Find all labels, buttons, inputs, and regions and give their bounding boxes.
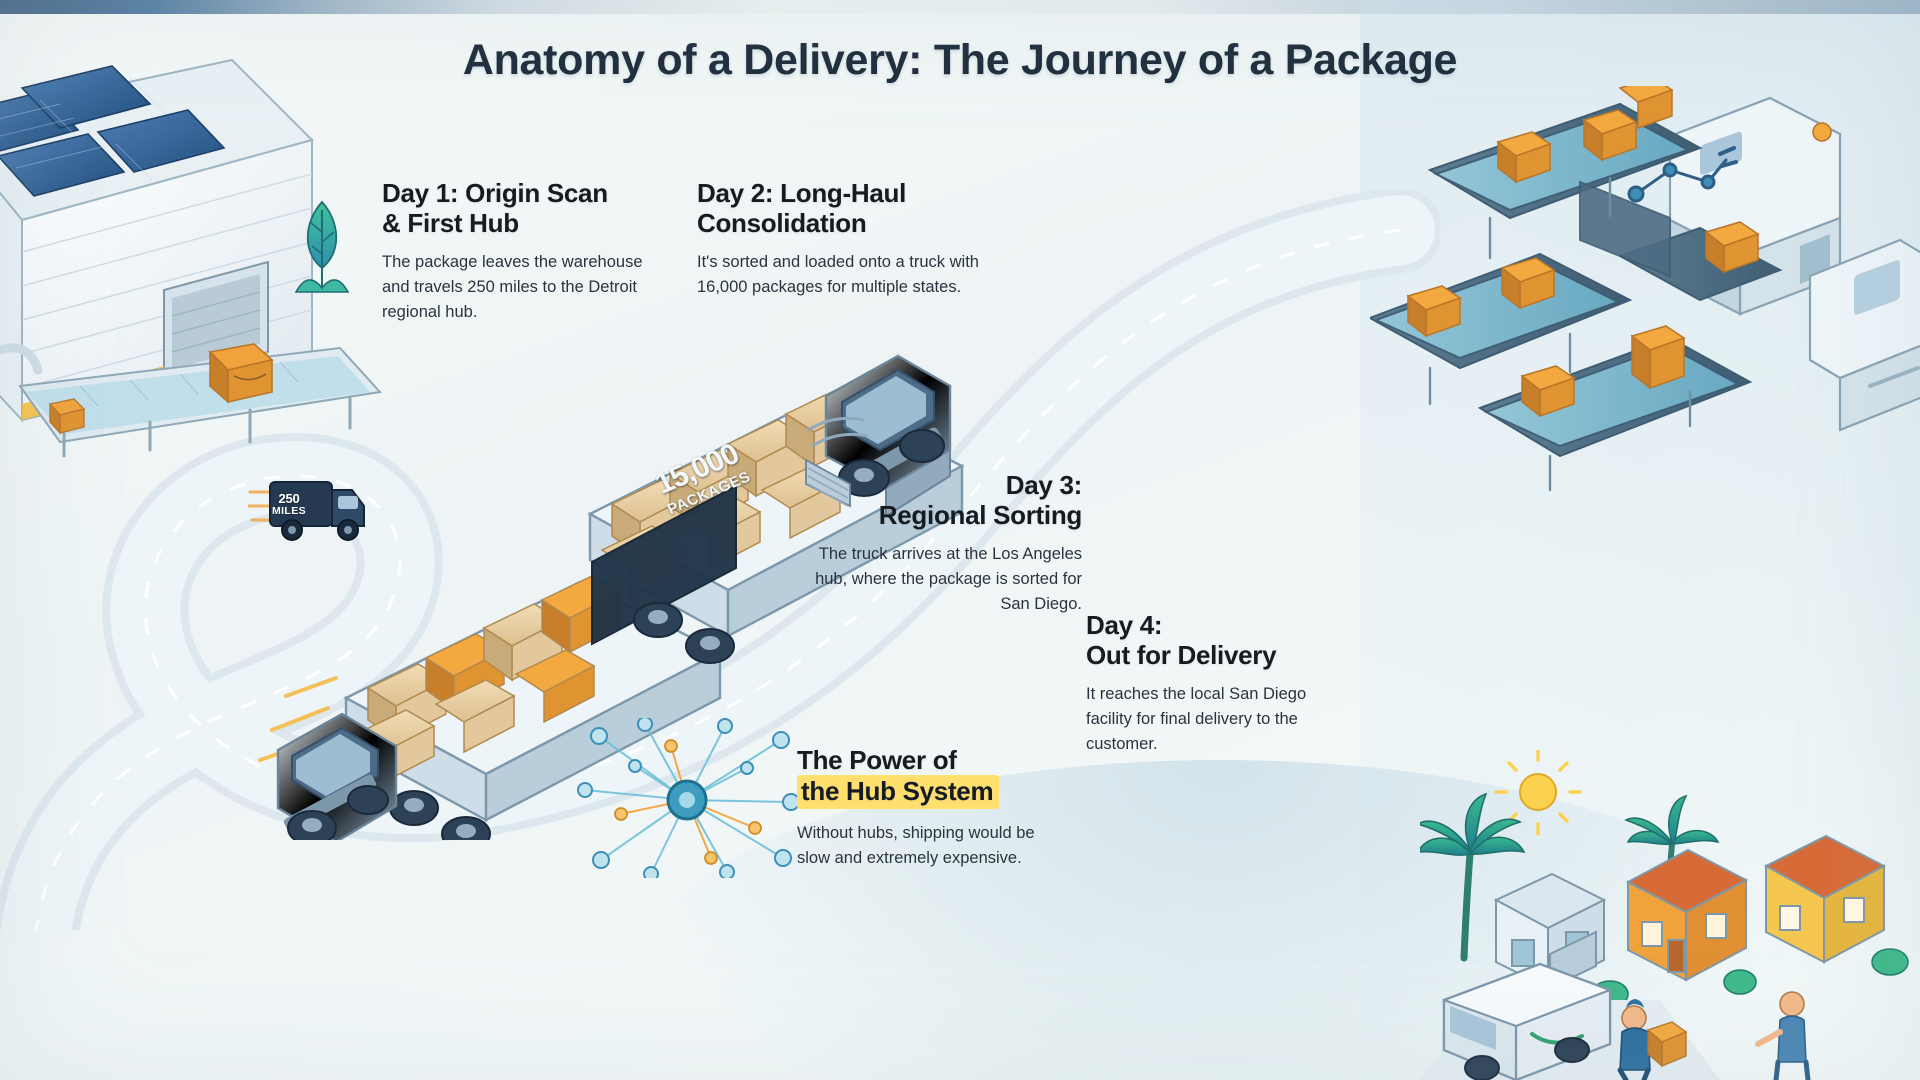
hub-callout-block: The Power of the Hub System Without hubs… — [797, 745, 1037, 871]
step-heading-day1-line2: & First Hub — [382, 208, 519, 238]
step-heading-day1-line1: Day 1: Origin Scan — [382, 178, 608, 208]
hub-callout-heading: The Power of the Hub System — [797, 745, 1037, 809]
distance-badge: 250 MILES — [260, 488, 318, 530]
sorting-facility-icon — [1370, 86, 1920, 556]
hub-callout-body: Without hubs, shipping would be slow and… — [797, 821, 1037, 871]
step-heading-day2: Day 2: Long-Haul Consolidation — [697, 178, 997, 238]
hub-callout-heading-line1: The Power of — [797, 745, 957, 775]
step-heading-day1: Day 1: Origin Scan & First Hub — [382, 178, 654, 238]
hub-callout-heading-highlight: the Hub System — [797, 775, 999, 809]
neighborhood-icon — [1420, 750, 1920, 1080]
infographic-canvas: 250 MILES — [0, 0, 1920, 1080]
distance-unit: MILES — [260, 506, 318, 517]
step-block-day2: Day 2: Long-Haul Consolidation It's sort… — [697, 178, 997, 300]
step-body-day4: It reaches the local San Diego facility … — [1086, 682, 1308, 757]
step-block-day1: Day 1: Origin Scan & First Hub The packa… — [382, 178, 654, 326]
step-heading-day3-line1: Day 3: — [1006, 470, 1082, 500]
step-heading-day3: Day 3: Regional Sorting — [800, 470, 1082, 530]
page-title: Anatomy of a Delivery: The Journey of a … — [0, 36, 1920, 85]
customer-person-icon — [1758, 992, 1808, 1080]
distance-value: 250 — [278, 491, 299, 506]
step-heading-day4-line1: Day 4: — [1086, 610, 1162, 640]
step-heading-day3-line2: Regional Sorting — [879, 500, 1082, 530]
step-body-day1: The package leaves the warehouse and tra… — [382, 250, 654, 325]
step-heading-day4-line2: Out for Delivery — [1086, 640, 1276, 670]
step-body-day2: It's sorted and loaded onto a truck with… — [697, 250, 997, 300]
step-heading-day4: Day 4: Out for Delivery — [1086, 610, 1308, 670]
tree-icon — [292, 196, 352, 306]
step-heading-day2-line2: Consolidation — [697, 208, 866, 238]
step-body-day3: The truck arrives at the Los Angeles hub… — [800, 542, 1082, 617]
step-block-day4: Day 4: Out for Delivery It reaches the l… — [1086, 610, 1308, 758]
step-block-day3: Day 3: Regional Sorting The truck arrive… — [800, 470, 1082, 618]
step-heading-day2-line1: Day 2: Long-Haul — [697, 178, 906, 208]
hub-network-icon — [575, 718, 800, 878]
